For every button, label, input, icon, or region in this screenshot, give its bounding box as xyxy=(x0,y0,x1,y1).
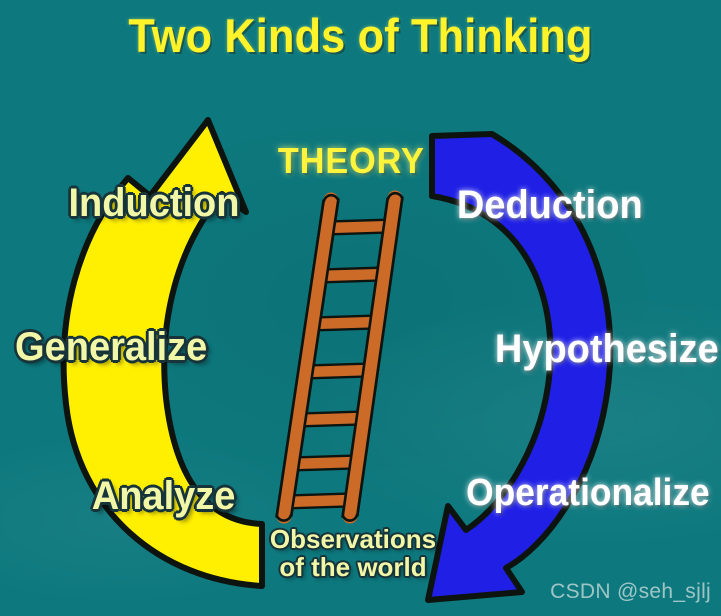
label-operationalize: Operationalize xyxy=(466,472,710,515)
label-analyze: Analyze xyxy=(92,474,236,519)
label-observations-line2: of the world xyxy=(253,553,453,581)
label-generalize: Generalize xyxy=(15,325,207,370)
label-observations: Observations of the world xyxy=(253,525,453,581)
label-induction: Induction xyxy=(68,181,239,226)
label-theory: THEORY xyxy=(278,140,425,182)
watermark: CSDN @seh_sjlj xyxy=(550,580,711,604)
label-hypothesize: Hypothesize xyxy=(495,327,719,372)
label-deduction: Deduction xyxy=(457,183,643,228)
label-observations-line1: Observations xyxy=(270,524,436,554)
diagram-canvas: Two Kinds of Thinking xyxy=(0,0,721,616)
